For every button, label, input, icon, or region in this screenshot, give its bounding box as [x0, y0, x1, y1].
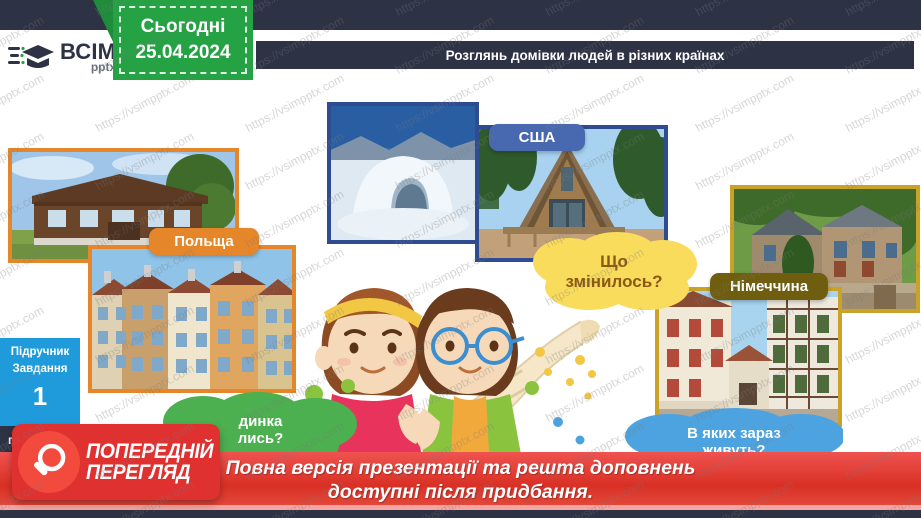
old-town-row-houses-photo [88, 245, 296, 393]
speech-bubble-yellow: Щозмінилось? [531, 232, 697, 312]
graduation-cap-icon [8, 40, 56, 74]
igloo-photo [327, 102, 479, 244]
page-title: Розглянь домівки людей в різних країнах [446, 48, 725, 63]
purchase-notice-line-1: Повна версія презентації та решта доповн… [226, 456, 696, 480]
sidebar-task-number: 1 [33, 381, 47, 412]
sidebar-item-label-1: Підручник [11, 344, 69, 361]
country-label-poland-text: Польща [174, 233, 234, 250]
country-label-poland: Польща [149, 228, 259, 255]
country-label-germany: Німеччина [710, 273, 828, 300]
speech-bubble-green-text: динкались? [238, 413, 283, 448]
purchase-notice-line-2: доступні після придбання. [328, 480, 593, 504]
country-label-usa: США [489, 124, 585, 151]
magnifier-icon [18, 431, 80, 493]
slide-title-bar: Розглянь домівки людей в різних країнах [256, 41, 914, 69]
preview-badge[interactable]: ПОПЕРЕДНІЙ ПЕРЕГЛЯД [12, 424, 220, 500]
date-badge-label: Сьогодні [141, 16, 226, 38]
sidebar-item-label-2: Завдання [13, 361, 68, 378]
slide-stage: ВСІМ pptx Сьогодні 25.04.2024 Розглянь д… [0, 0, 921, 518]
country-label-usa-text: США [519, 129, 556, 146]
country-label-germany-text: Німеччина [730, 278, 808, 295]
date-badge: Сьогодні 25.04.2024 [113, 0, 253, 80]
purchase-notice-stripe [0, 505, 921, 510]
speech-bubble-yellow-text: Щозмінилось? [565, 252, 662, 291]
date-badge-value: 25.04.2024 [135, 42, 230, 64]
preview-badge-line-1: ПОПЕРЕДНІЙ [86, 441, 213, 462]
sidebar-task-panel[interactable]: Підручник Завдання 1 [0, 338, 80, 426]
preview-badge-line-2: ПЕРЕГЛЯД [86, 462, 213, 483]
preview-badge-text: ПОПЕРЕДНІЙ ПЕРЕГЛЯД [86, 441, 223, 483]
